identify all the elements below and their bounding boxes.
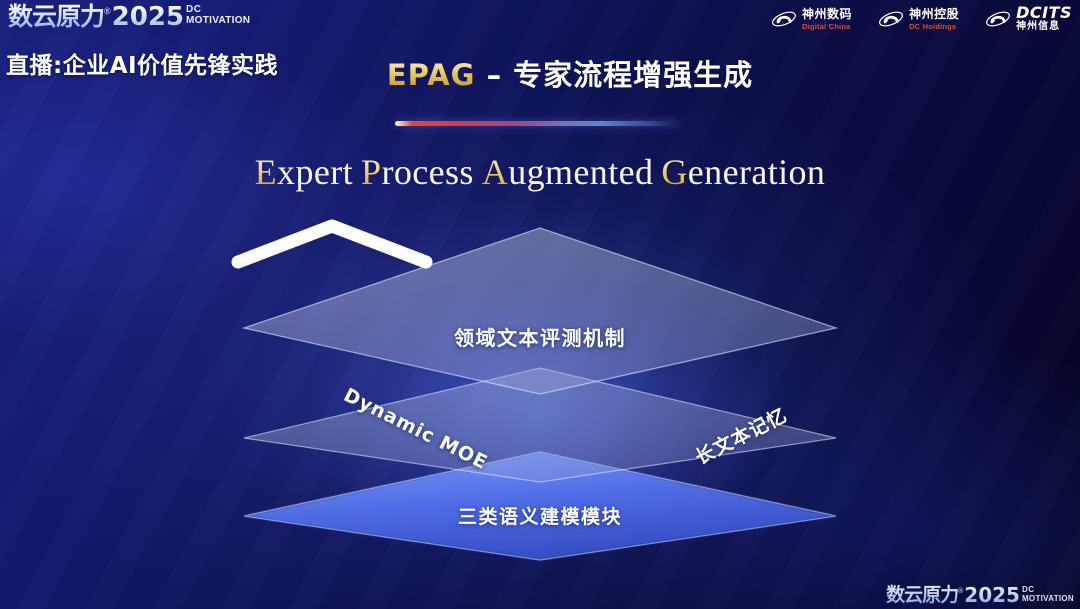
subtitle-word-expert: Expert (255, 152, 353, 192)
headline-acronym: EPAG (387, 58, 476, 92)
subtitle-rest: rocess (381, 152, 473, 192)
gradient-divider (395, 121, 680, 126)
brand-dc-motivation: DC MOTIVATION (1022, 586, 1074, 603)
partner-name-cn: 神州信息 (1016, 21, 1072, 33)
subtitle-rest: eneration (688, 152, 826, 192)
stack-layer-top[interactable]: 领域文本评测机制 (228, 216, 852, 576)
swirl-logo-icon (878, 7, 904, 31)
partner-logo-dc-holdings: 神州控股 DC Holdings (878, 7, 959, 31)
partner-name-cn: 神州数码 (802, 8, 852, 21)
partner-logo-text: DCITS 神州信息 (1016, 5, 1072, 33)
partner-logo-text: 神州数码 Digital China (802, 8, 852, 31)
partner-logo-digital-china: 神州数码 Digital China (771, 7, 852, 31)
subtitle-word-augmented: Augmented (482, 152, 654, 192)
subtitle-rest: xpert (277, 152, 353, 192)
brand-name-cn: 数云原力 (886, 584, 958, 607)
subtitle-initial: P (361, 152, 381, 192)
top-layer-label: 领域文本评测机制 (228, 322, 852, 351)
brand-dc-motivation: DC MOTIVATION (186, 5, 250, 26)
brand-logo-top-left: 数云原力 ® 2025 DC MOTIVATION (8, 2, 250, 32)
partner-name-en: DCITS (1016, 5, 1072, 21)
brand-year: 2025 (964, 584, 1020, 607)
brand-dc-text: DC (1022, 586, 1074, 594)
partner-name-en: DC Holdings (909, 22, 959, 31)
headline-text-cn: 专家流程增强生成 (513, 58, 753, 92)
partner-logo-dcits: DCITS 神州信息 (985, 5, 1072, 33)
subtitle-initial: A (482, 152, 508, 192)
swirl-logo-icon (771, 7, 797, 31)
brand-motivation-text: MOTIVATION (186, 15, 250, 26)
chevron-up-icon (228, 216, 436, 272)
partner-name-en: Digital China (802, 22, 852, 31)
partner-name-cn: 神州控股 (909, 8, 959, 21)
subtitle-word-process: Process (361, 152, 474, 192)
subtitle-initial: E (255, 152, 277, 192)
brand-motivation-text: MOTIVATION (1022, 594, 1074, 603)
brand-dc-text: DC (186, 5, 250, 15)
swirl-logo-icon (985, 7, 1011, 31)
brand-name-cn: 数云原力 (8, 2, 104, 32)
headline-separator: – (475, 58, 513, 92)
subtitle-initial: G (661, 152, 687, 192)
presentation-slide: 数云原力 ® 2025 DC MOTIVATION 直播:企业AI价值先锋实践 … (0, 0, 1080, 609)
subtitle-word-generation: Generation (661, 152, 825, 192)
partner-logo-text: 神州控股 DC Holdings (909, 8, 959, 31)
brand-logo-bottom-right: 数云原力 ® 2025 DC MOTIVATION (886, 584, 1074, 607)
slide-headline: EPAG – 专家流程增强生成 (0, 52, 1080, 94)
partner-logo-bar: 神州数码 Digital China 神州控股 DC Holdings (771, 5, 1072, 33)
registered-mark: ® (104, 2, 111, 17)
layer-stack-diagram: 三类语义建模模块 Dynamic MOE 长文本记忆 (228, 216, 852, 576)
registered-mark: ® (958, 584, 963, 598)
slide-subtitle: ExpertProcessAugmentedGeneration (0, 151, 1080, 193)
subtitle-rest: ugmented (508, 152, 653, 192)
brand-year: 2025 (112, 2, 184, 32)
